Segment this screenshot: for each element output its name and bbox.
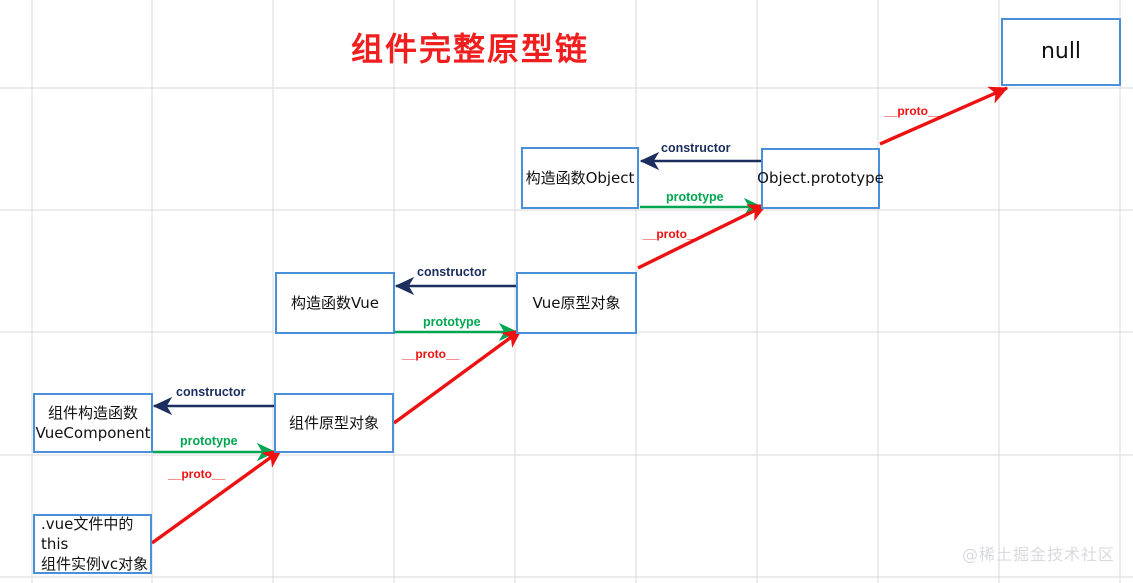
arrow-label-proto-chain-1: __proto__ bbox=[168, 467, 225, 481]
box-label: 组件原型对象 bbox=[289, 413, 379, 433]
box-label: 构造函数Object bbox=[526, 168, 635, 188]
arrow-label-proto-chain-4: __proto__ bbox=[884, 104, 941, 118]
watermark: @稀土掘金技术社区 bbox=[962, 541, 1115, 565]
box-object-ctor: 构造函数Object bbox=[521, 147, 639, 209]
box-vue-prototype: Vue原型对象 bbox=[516, 272, 637, 334]
arrow-label-ctor-object: constructor bbox=[661, 141, 730, 155]
box-null-box: null bbox=[1001, 18, 1121, 86]
box-component-ctor: 组件构造函数VueComponent bbox=[33, 393, 153, 453]
arrow-label-ctor-vue: constructor bbox=[417, 265, 486, 279]
box-object-prototype: Object.prototype bbox=[761, 148, 880, 209]
arrow-label-proto-vue: prototype bbox=[423, 315, 481, 329]
box-label: Vue原型对象 bbox=[533, 293, 621, 313]
box-component-prototype: 组件原型对象 bbox=[274, 393, 394, 453]
box-vue-ctor: 构造函数Vue bbox=[275, 272, 395, 334]
arrow-proto-chain-2 bbox=[394, 330, 521, 423]
arrow-label-proto-object: prototype bbox=[666, 190, 724, 204]
box-label: .vue文件中的this组件实例vc对象 bbox=[41, 514, 150, 575]
arrow-label-proto-chain-2: __proto__ bbox=[402, 347, 459, 361]
box-label: null bbox=[1041, 37, 1081, 67]
arrow-label-proto-component: prototype bbox=[180, 434, 238, 448]
arrow-label-ctor-component: constructor bbox=[176, 385, 245, 399]
box-vc-instance: .vue文件中的this组件实例vc对象 bbox=[33, 514, 152, 574]
box-label: 构造函数Vue bbox=[291, 293, 379, 313]
box-label: Object.prototype bbox=[757, 168, 884, 188]
diagram-canvas: 组件完整原型链 null构造函数ObjectObject.prototype构造… bbox=[0, 0, 1133, 583]
arrow-label-proto-chain-3: __proto__ bbox=[643, 227, 700, 241]
box-label: 组件构造函数VueComponent bbox=[35, 403, 150, 444]
arrow-proto-chain-1 bbox=[152, 450, 281, 543]
